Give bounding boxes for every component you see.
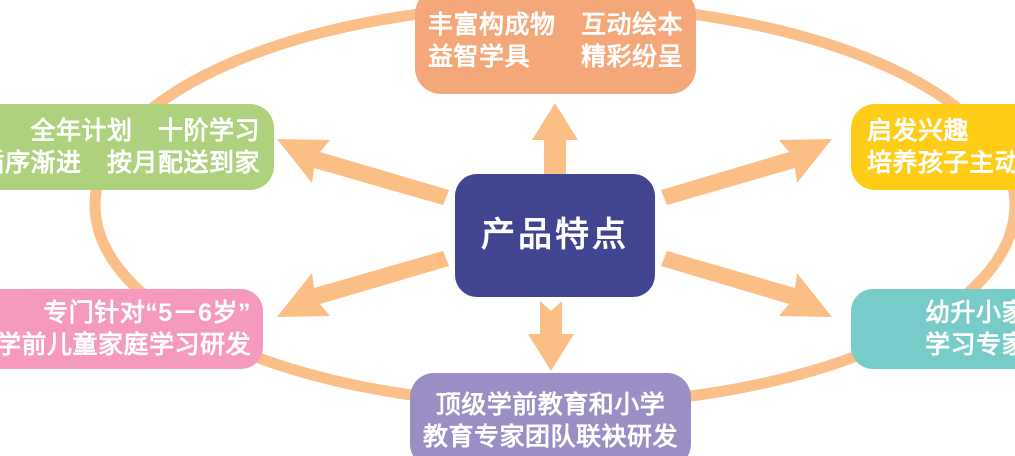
node-top-line-1: 丰富构成物 互动绘本 xyxy=(428,9,683,41)
arrow-down-icon xyxy=(528,301,574,371)
node-left-bottom-line-2: 学前儿童家庭学习研发 xyxy=(0,329,251,361)
node-right-bottom-line-2: 学习专家和开 xyxy=(925,329,1015,361)
node-bottom[interactable]: 顶级学前教育和小学 教育专家团队联袂研发 xyxy=(410,373,691,456)
node-left-bottom-line-1: 专门针对“5－6岁” xyxy=(43,297,251,329)
node-top[interactable]: 丰富构成物 互动绘本 益智学具 精彩纷呈 xyxy=(415,0,696,94)
node-center[interactable]: 产品特点 xyxy=(455,174,655,297)
arrow-down-right-icon xyxy=(661,251,832,317)
node-bottom-line-1: 顶级学前教育和小学 xyxy=(436,389,666,421)
diagram-canvas: 产品特点 丰富构成物 互动绘本 益智学具 精彩纷呈 全年计划 十阶学习 循序渐进… xyxy=(0,0,1015,456)
arrow-up-right-icon xyxy=(661,139,832,205)
arrow-down-left-icon xyxy=(277,251,449,317)
node-top-line-2: 益智学具 精彩纷呈 xyxy=(428,41,683,73)
node-left-top-line-2: 循序渐进 按月配送到家 xyxy=(0,147,260,179)
node-left-top-line-1: 全年计划 十阶学习 xyxy=(30,115,260,147)
node-left-top[interactable]: 全年计划 十阶学习 循序渐进 按月配送到家 xyxy=(0,104,274,190)
node-right-bottom-line-1: 幼升小家 xyxy=(925,297,1015,329)
node-right-bottom[interactable]: 幼升小家 学习专家和开 xyxy=(851,289,1015,369)
node-right-top-line-2: 培养孩子主动学 xyxy=(867,147,1015,179)
node-center-line-1: 产品特点 xyxy=(481,214,629,258)
arrow-up-left-icon xyxy=(277,139,449,205)
node-right-top-line-1: 启发兴趣 寓 xyxy=(867,115,1015,147)
node-right-top[interactable]: 启发兴趣 寓 培养孩子主动学 xyxy=(851,104,1015,190)
node-left-bottom[interactable]: 专门针对“5－6岁” 学前儿童家庭学习研发 xyxy=(0,289,263,369)
node-bottom-line-2: 教育专家团队联袂研发 xyxy=(423,421,678,453)
